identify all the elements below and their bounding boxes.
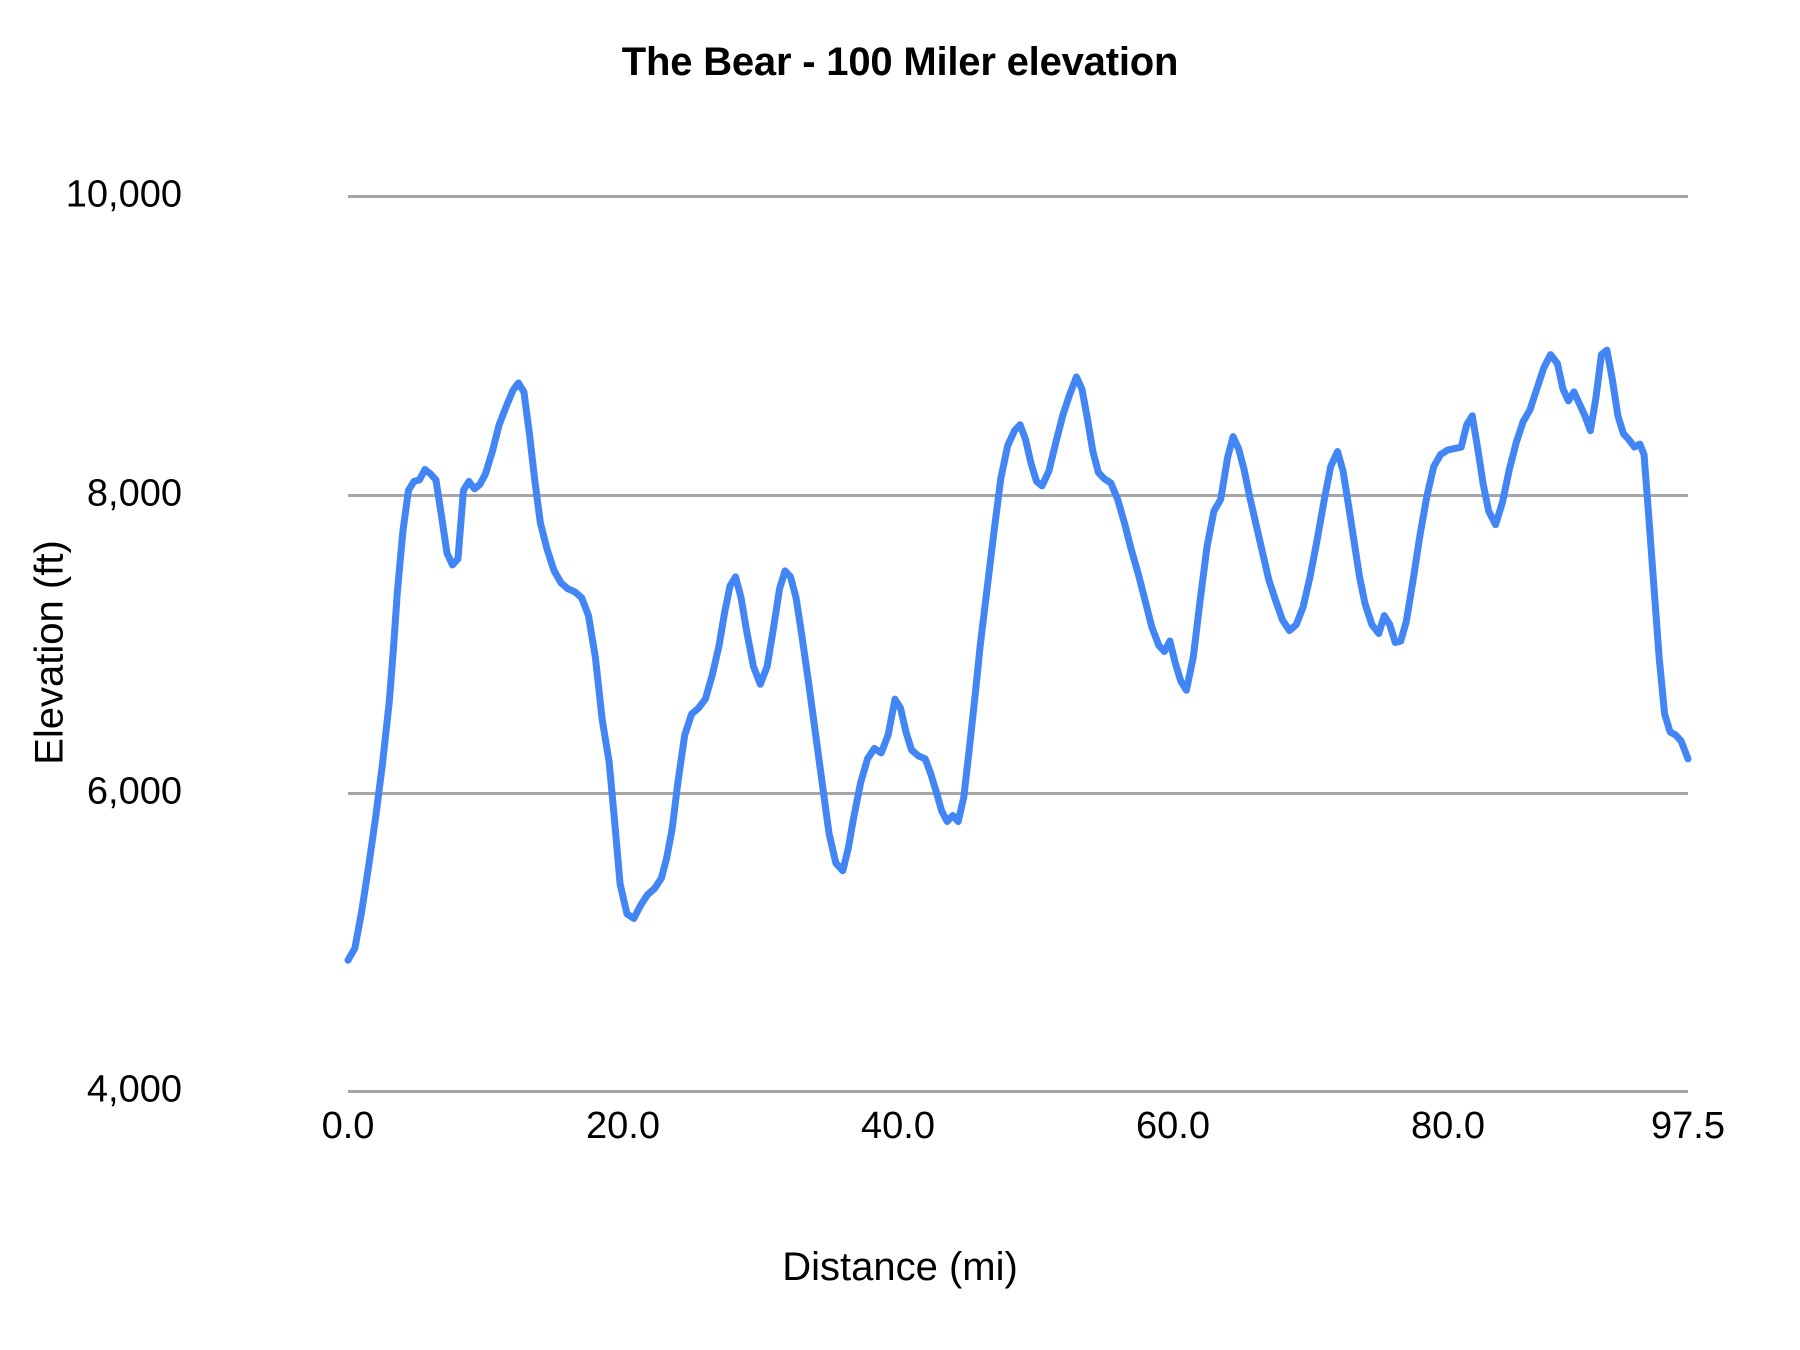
x-tick-label-80: 80.0: [1411, 1105, 1485, 1148]
elevation-line: [348, 350, 1688, 960]
x-tick-label-60: 60.0: [1136, 1105, 1210, 1148]
gridline-4000: [348, 1090, 1688, 1093]
x-tick-label-40: 40.0: [861, 1105, 935, 1148]
y-tick-label-8000: 8,000: [87, 473, 182, 516]
plot-area: [348, 195, 1688, 1090]
x-tick-label-97-5: 97.5: [1651, 1105, 1725, 1148]
x-tick-label-20: 20.0: [586, 1105, 660, 1148]
x-tick-label-0: 0.0: [322, 1105, 375, 1148]
y-tick-label-4000: 4,000: [87, 1069, 182, 1112]
y-tick-label-6000: 6,000: [87, 771, 182, 814]
y-axis-title: Elevation (ft): [28, 333, 73, 973]
elevation-series: [348, 195, 1688, 1090]
y-tick-label-10000: 10,000: [66, 174, 182, 217]
chart-container: The Bear - 100 Miler elevation 10,000 8,…: [0, 0, 1800, 1350]
x-axis-title: Distance (mi): [0, 1245, 1800, 1290]
chart-title: The Bear - 100 Miler elevation: [0, 40, 1800, 85]
